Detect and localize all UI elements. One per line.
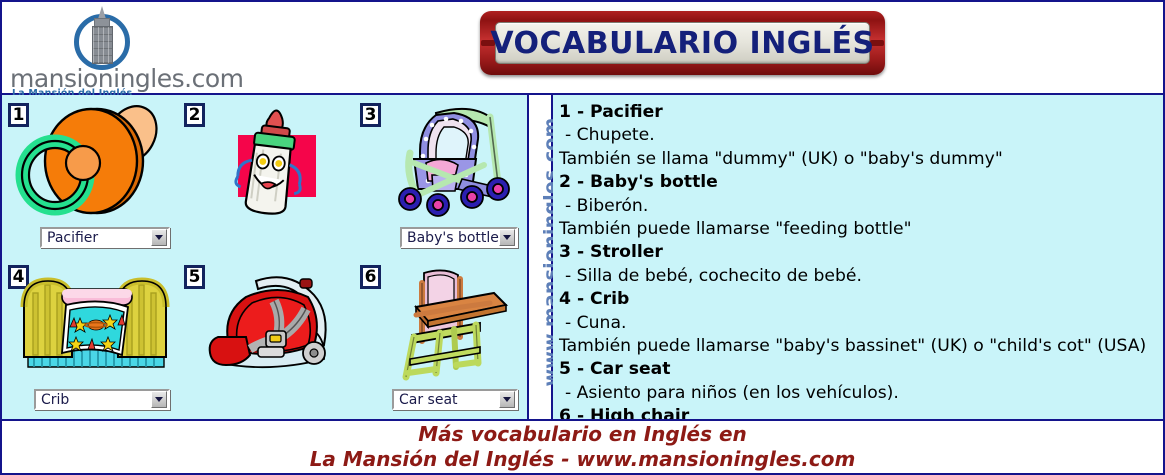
- pacifier-illustration: [14, 101, 176, 223]
- dropdown-pacifier[interactable]: Pacifier: [40, 227, 170, 248]
- definition-line: 5 - Car seat: [559, 358, 1159, 381]
- grid-cell-6: 6: [354, 257, 528, 419]
- dropdown-value: Pacifier: [42, 230, 151, 246]
- page-footer: Más vocabulario en Inglés en La Mansión …: [2, 419, 1163, 473]
- definition-line: - Asiento para niños (en los vehículos).: [559, 382, 1159, 405]
- page-title: VOCABULARIO INGLÉS: [490, 26, 874, 61]
- definition-line: - Cuna.: [559, 312, 1159, 335]
- definition-line: 4 - Crib: [559, 288, 1159, 311]
- chevron-down-icon[interactable]: [151, 229, 167, 246]
- definition-line: 2 - Baby's bottle: [559, 171, 1159, 194]
- page-header: mansioningles.com La Mansión del Inglés …: [2, 2, 1163, 95]
- definition-line: - Silla de bebé, cochecito de bebé.: [559, 265, 1159, 288]
- watermark-strip: www.mansioningles.com: [529, 95, 553, 419]
- title-plaque-inner: VOCABULARIO INGLÉS: [495, 22, 870, 64]
- picture-grid: 1 Pacifier: [2, 95, 529, 419]
- definition-line: También puede llamarse "baby's bassinet"…: [559, 335, 1159, 358]
- dropdown-value: Crib: [36, 392, 151, 408]
- babys-bottle-illustration: [190, 101, 352, 223]
- definition-line: 3 - Stroller: [559, 241, 1159, 264]
- definition-line: - Biberón.: [559, 195, 1159, 218]
- definition-line: 1 - Pacifier: [559, 101, 1159, 124]
- grid-cell-2: 2: [178, 95, 352, 257]
- car-seat-illustration: [190, 263, 352, 385]
- site-logo[interactable]: mansioningles.com La Mansión del Inglés: [10, 4, 225, 94]
- grid-cell-3: 3: [354, 95, 528, 257]
- tower-circle-logo-icon: [74, 6, 138, 70]
- definition-line: - Chupete.: [559, 124, 1159, 147]
- title-plaque: VOCABULARIO INGLÉS: [480, 11, 885, 75]
- grid-cell-5: 5: [178, 257, 352, 419]
- high-chair-illustration: [366, 263, 528, 385]
- worksheet-page: mansioningles.com La Mansión del Inglés …: [0, 0, 1165, 475]
- definition-line: También puede llamarse "feeding bottle": [559, 218, 1159, 241]
- definitions-panel: 1 - Pacifier - Chupete. También se llama…: [553, 95, 1163, 419]
- dropdown-crib[interactable]: Crib: [34, 389, 170, 410]
- crib-illustration: [14, 263, 176, 385]
- content-area: 1 Pacifier: [2, 95, 1163, 419]
- footer-line-2: La Mansión del Inglés - www.mansioningle…: [310, 447, 856, 472]
- stroller-illustration: [366, 101, 528, 223]
- grid-cell-1: 1 Pacifier: [2, 95, 176, 257]
- grid-cell-4: 4: [2, 257, 176, 419]
- definition-line: También se llama "dummy" (UK) o "baby's …: [559, 148, 1159, 171]
- chevron-down-icon[interactable]: [151, 391, 167, 408]
- footer-line-1: Más vocabulario en Inglés en: [418, 422, 747, 447]
